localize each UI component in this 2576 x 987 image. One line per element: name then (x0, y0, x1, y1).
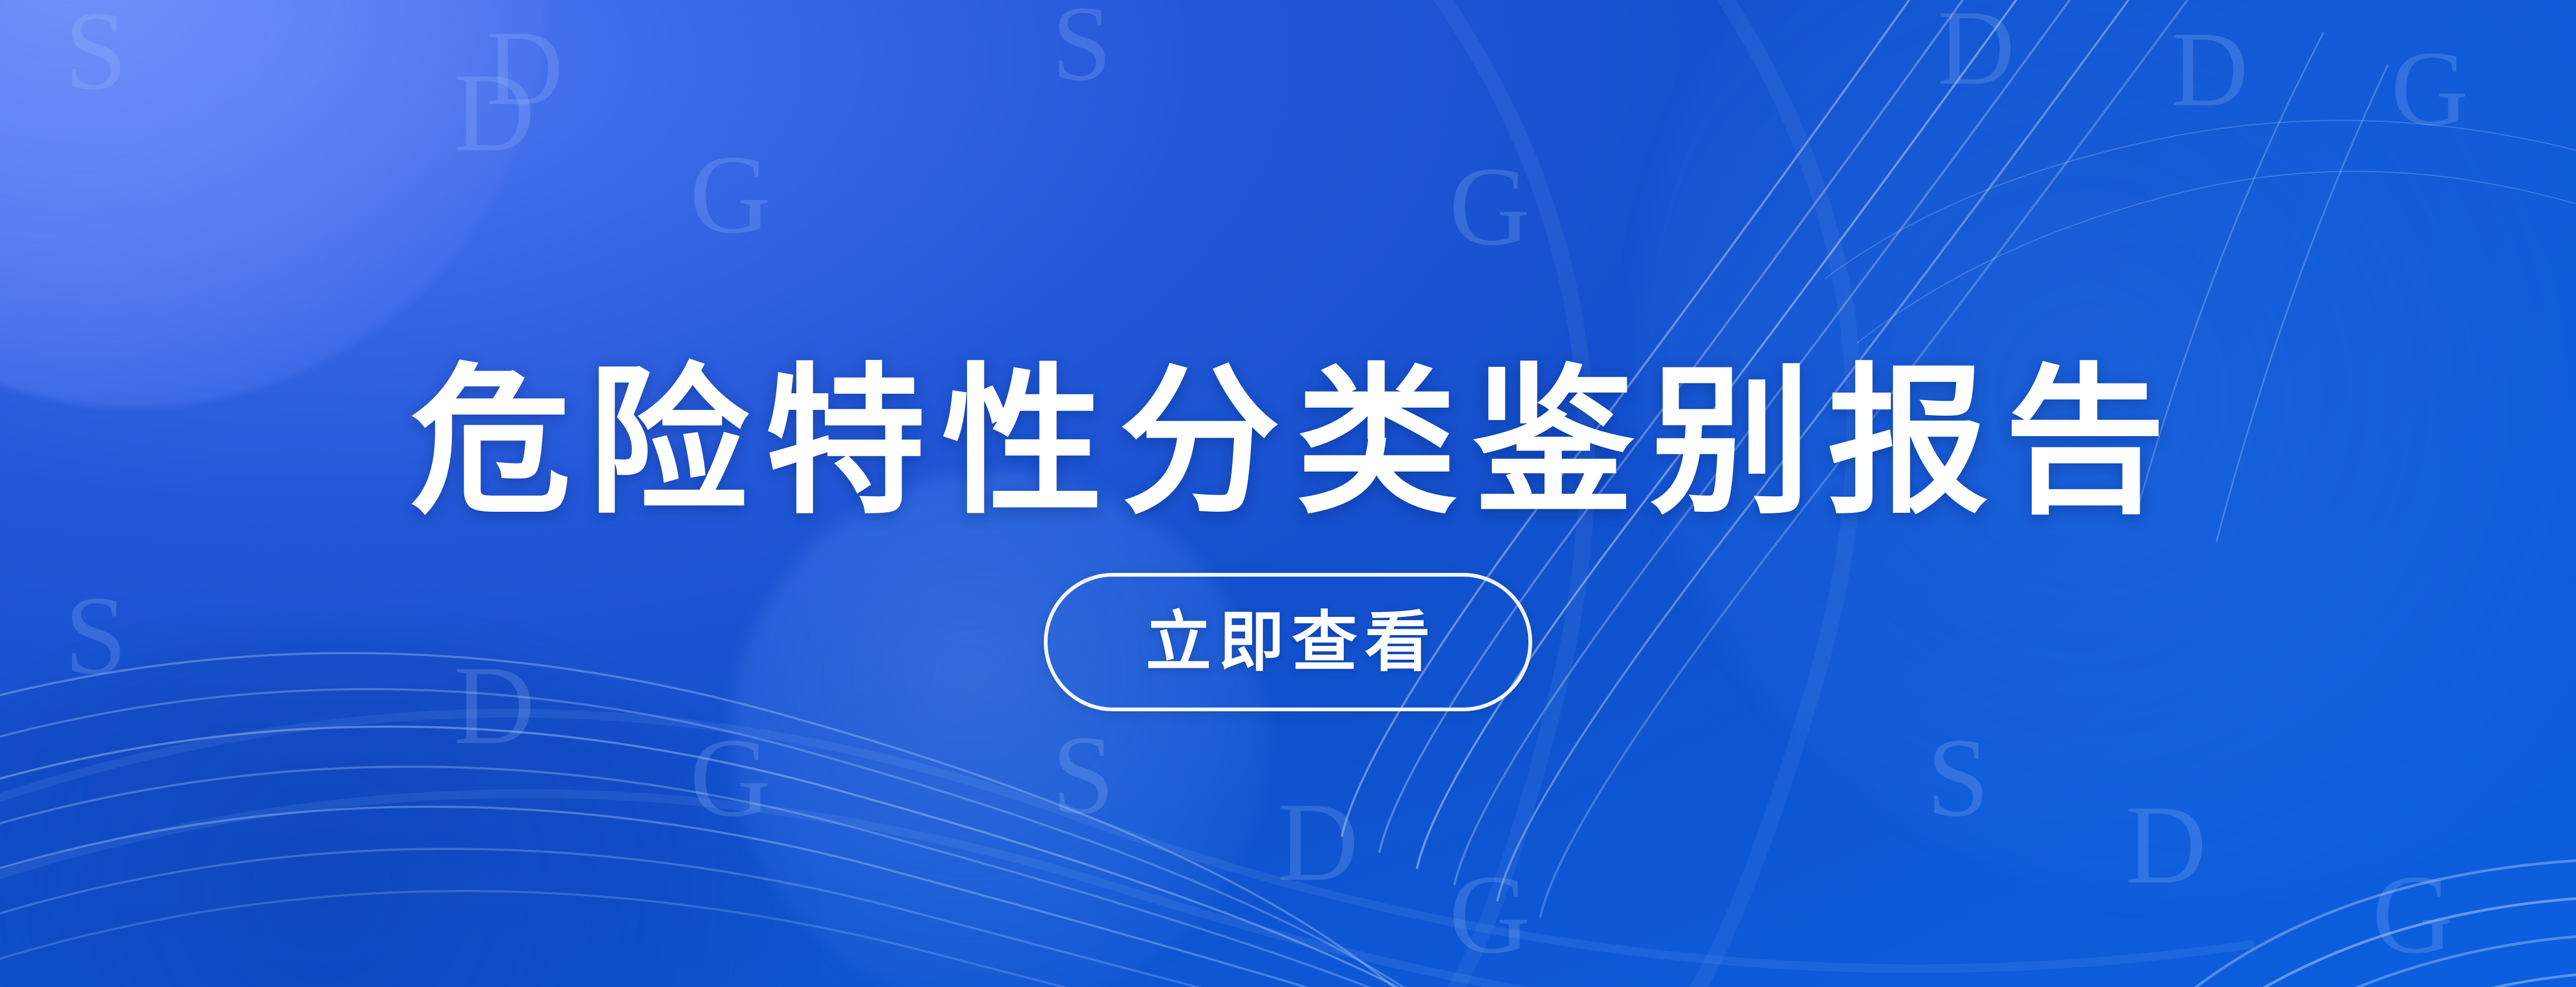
watermark-letter-g: G (690, 138, 771, 251)
promo-banner: SDSDDGDGGSDGSDGSDG 危险特性分类鉴别报告 立即查看 (0, 0, 2576, 987)
decor-circle-top-left (0, 0, 547, 408)
watermark-letter-d: D (1277, 786, 1359, 898)
watermark-letter-g: G (1449, 858, 1531, 971)
watermark-letter-s: S (1052, 0, 1111, 98)
cta-container: 立即查看 (0, 573, 2576, 711)
watermark-letter-g: G (2372, 858, 2454, 971)
watermark-letter-g: G (1449, 150, 1531, 263)
page-title: 危险特性分类鉴别报告 (0, 352, 2576, 532)
view-now-button[interactable]: 立即查看 (1044, 573, 1532, 711)
decor-circle-center (730, 472, 1267, 987)
view-now-button-label: 立即查看 (1138, 609, 1438, 675)
